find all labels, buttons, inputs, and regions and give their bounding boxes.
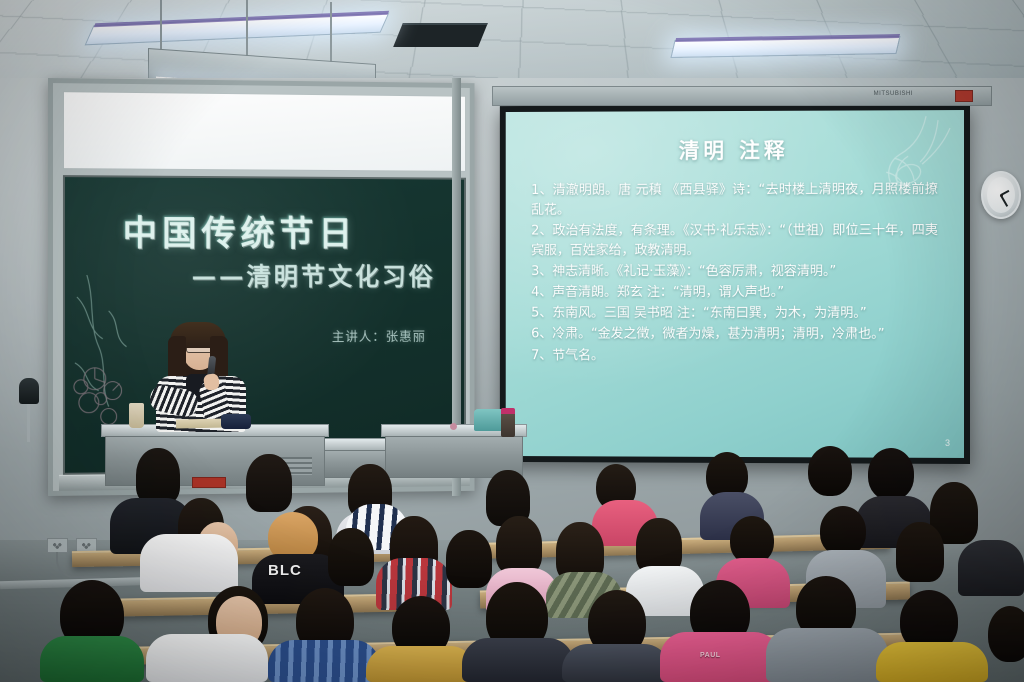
slide-line: 2、政治有法度，有条理。《汉书·礼乐志》：“（世祖）即位三十年，四夷宾服，百姓家…: [531, 221, 938, 261]
student-body: [146, 634, 268, 682]
dark-device: [221, 414, 251, 429]
fixture-rod: [246, 0, 248, 60]
student-body: [766, 628, 888, 682]
classroom-photo: 中国传统节日 ——清明节文化习俗 主讲人：张惠丽 MITSUBISHI: [0, 0, 1024, 682]
student-head: [896, 522, 944, 582]
student-head: [820, 506, 866, 556]
screen-warning-label: [955, 90, 973, 102]
slide-surface: 清明 注释 1、清澈明朗。唐 元稹 《西县驿》诗：“去时楼上清明夜，月照楼前撩乱…: [506, 110, 964, 458]
blackboard-title: 中国传统节日: [123, 205, 357, 256]
slide-line: 6、冷肃。“金发之徵，微者为燥，甚为清明；清明，冷肃也。”: [531, 325, 938, 345]
student-head: [446, 530, 492, 588]
student-head: [808, 446, 852, 496]
student-head: [136, 448, 180, 504]
shirt-text-paul: PAUL: [700, 652, 721, 659]
audience: BLC PAUL: [0, 430, 1024, 682]
bottle-cap: [501, 408, 515, 414]
slide-line: 5、东南风。三国 吴书昭 注：“东南曰巽，为木，为清明。”: [531, 304, 938, 324]
student-head: [328, 528, 374, 586]
clock-center-pin: [1000, 194, 1003, 197]
slide-body: 1、清澈明朗。唐 元稹 《西县驿》诗：“去时楼上清明夜，月照楼前撩乱花。 2、政…: [527, 180, 942, 366]
projection-screen: 清明 注释 1、清澈明朗。唐 元稹 《西县驿》诗：“去时楼上清明夜，月照楼前撩乱…: [500, 104, 970, 464]
student-head: [246, 454, 292, 512]
student-head: [730, 516, 774, 564]
ceiling-vent: [393, 23, 488, 47]
slide-line: 7、节气名。: [531, 346, 938, 367]
clock-face: [987, 177, 1015, 213]
student-body: [876, 642, 988, 682]
projection-screen-housing: MITSUBISHI: [492, 86, 992, 106]
wall-clock: [981, 171, 1021, 219]
whiteboard-panel: [63, 91, 466, 172]
slide-line: 3、神志清晰。《礼记·玉藻》：“色容厉肃，视容清明。”: [531, 262, 938, 282]
orchid-decoration-icon: [864, 112, 960, 204]
paper-cup: [129, 403, 144, 428]
screen-brand-label: MITSUBISHI: [874, 91, 913, 97]
student-head: [496, 516, 542, 574]
blackboard-signature: 主讲人：张惠丽: [332, 326, 426, 345]
student-body: [40, 636, 144, 682]
small-pink-object: [450, 423, 457, 430]
student-head: [988, 606, 1024, 662]
student-body-white-hoodie: [140, 534, 238, 592]
student-body: [366, 646, 476, 682]
student-body: [958, 540, 1024, 596]
student-body-plaid-blue: [268, 640, 380, 682]
fixture-rod: [330, 2, 332, 62]
shirt-text-blc: BLC: [268, 562, 302, 579]
slide-line: 4、声音清朗。郑玄 注：“清明，谓人声也。”: [531, 283, 938, 303]
student-body: [462, 638, 574, 682]
student-head: [868, 448, 914, 500]
wall-speaker-icon: [19, 378, 39, 404]
blackboard-subtitle: ——清明节文化习俗: [192, 257, 436, 293]
student-body: [562, 644, 670, 682]
